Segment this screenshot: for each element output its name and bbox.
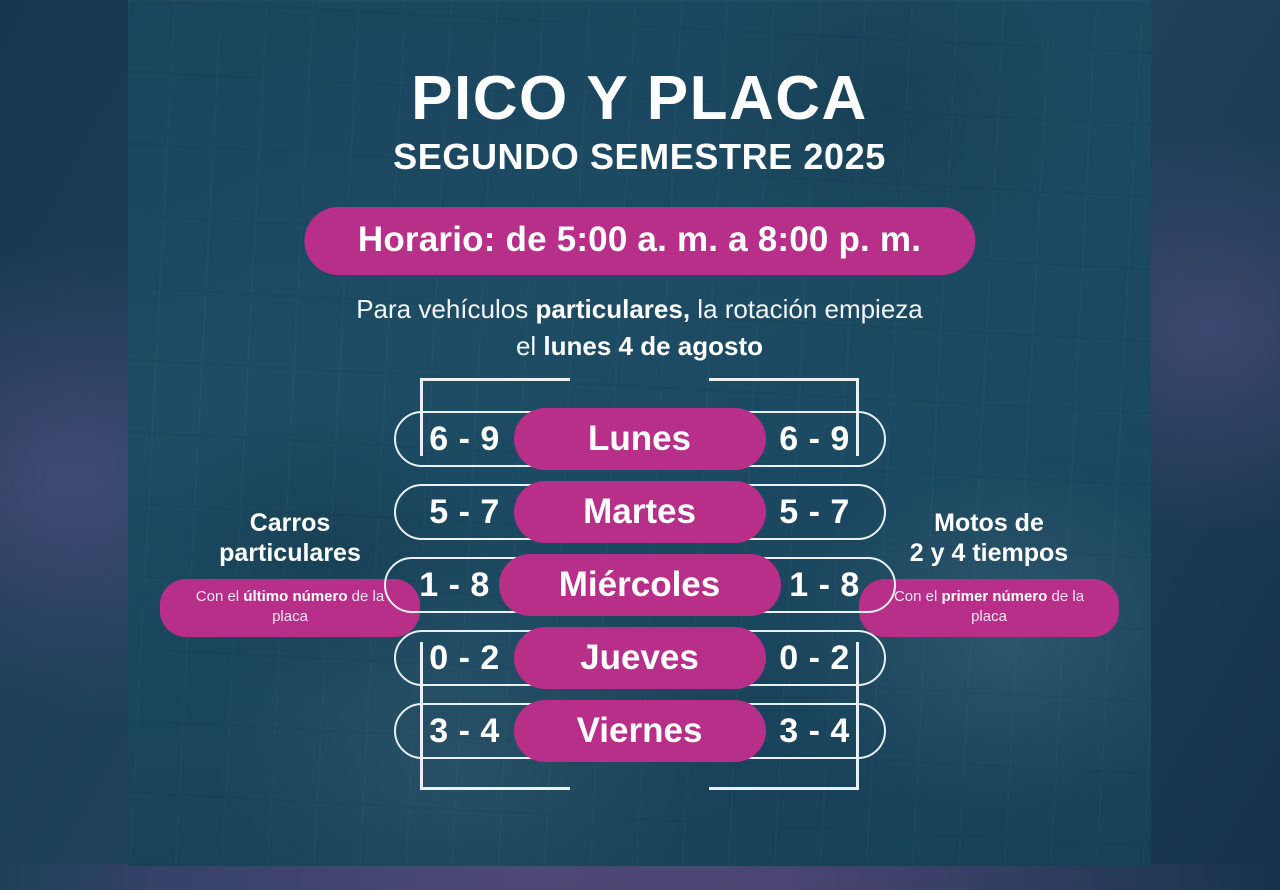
day-row-outline: 0 - 20 - 2Jueves [394,630,886,686]
page-subtitle: SEGUNDO SEMESTRE 2025 [128,139,1151,175]
rotation-note-line-2: el lunes 4 de agosto [128,328,1151,365]
bracket-right-top-arm [709,378,859,381]
day-row-outline: 5 - 75 - 7Martes [394,484,886,540]
range-cars: 3 - 4 [422,712,508,751]
day-schedule-list: 6 - 96 - 9Lunes5 - 75 - 7Martes1 - 81 - … [128,408,1151,773]
day-row: 0 - 20 - 2Jueves [128,627,1151,689]
schedule-banner: Horario: de 5:00 a. m. a 8:00 p. m. [304,207,975,275]
day-name-pill: Miércoles [499,554,781,616]
day-row: 6 - 96 - 9Lunes [128,408,1151,470]
range-cars: 6 - 9 [422,420,508,459]
day-row: 5 - 75 - 7Martes [128,481,1151,543]
day-name-pill: Jueves [514,627,766,689]
day-name-pill: Martes [514,481,766,543]
range-cars: 1 - 8 [412,566,498,605]
day-name-pill: Viernes [514,700,766,762]
headline-block: PICO Y PLACA SEGUNDO SEMESTRE 2025 [128,68,1151,175]
poster-content: PICO Y PLACA SEGUNDO SEMESTRE 2025 Horar… [128,0,1151,866]
day-row-outline: 3 - 43 - 4Viernes [394,703,886,759]
rotation-note-l1-bold: particulares, [535,294,690,324]
bracket-left-bottom-arm [420,787,570,790]
day-row: 1 - 81 - 8Miércoles [128,554,1151,616]
rotation-note: Para vehículos particulares, la rotación… [128,291,1151,365]
rotation-note-l2-a: el [516,331,543,361]
rotation-note-l1-b: la rotación empieza [690,294,923,324]
rotation-note-line-1: Para vehículos particulares, la rotación… [128,291,1151,328]
day-row: 3 - 43 - 4Viernes [128,700,1151,762]
range-motos: 3 - 4 [772,712,858,751]
range-motos: 1 - 8 [782,566,868,605]
rotation-note-l2-bold: lunes 4 de agosto [543,331,763,361]
page-title: PICO Y PLACA [128,68,1151,130]
range-motos: 0 - 2 [772,639,858,678]
range-motos: 6 - 9 [772,420,858,459]
range-cars: 0 - 2 [422,639,508,678]
day-row-outline: 1 - 81 - 8Miércoles [384,557,896,613]
bracket-left-top-arm [420,378,570,381]
poster-panel: PICO Y PLACA SEGUNDO SEMESTRE 2025 Horar… [128,0,1151,866]
rotation-note-l1-a: Para vehículos [356,294,535,324]
range-cars: 5 - 7 [422,493,508,532]
day-row-outline: 6 - 96 - 9Lunes [394,411,886,467]
bracket-right-bottom-arm [709,787,859,790]
day-name-pill: Lunes [514,408,766,470]
range-motos: 5 - 7 [772,493,858,532]
